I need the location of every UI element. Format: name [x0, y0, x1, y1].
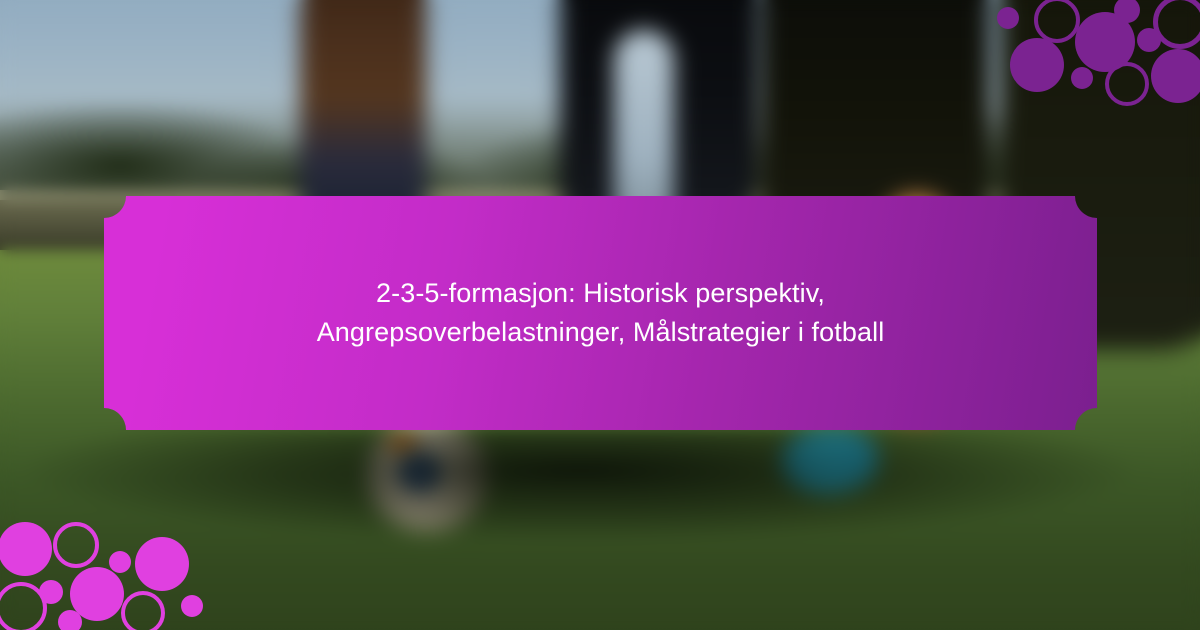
deco-bl-dot-2 [109, 551, 131, 573]
deco-bl-ring-1 [53, 522, 99, 568]
deco-bl-dot-3 [135, 537, 189, 591]
deco-bl-ring-6 [0, 582, 47, 630]
page-title: 2-3-5-formasjon: Historisk perspektiv, A… [271, 274, 931, 352]
page-title-line-2: Angrepsoverbelastninger, Målstrategier i… [317, 317, 885, 347]
deco-bl-dot-0 [0, 522, 52, 576]
deco-bl-dot-7 [58, 610, 82, 630]
deco-bl-dot-9 [181, 595, 203, 617]
deco-bl-ring-8 [121, 591, 165, 630]
banner-image: 2-3-5-formasjon: Historisk perspektiv, A… [0, 0, 1200, 630]
title-banner: 2-3-5-formasjon: Historisk perspektiv, A… [104, 196, 1097, 430]
page-title-line-1: 2-3-5-formasjon: Historisk perspektiv, [376, 278, 825, 308]
